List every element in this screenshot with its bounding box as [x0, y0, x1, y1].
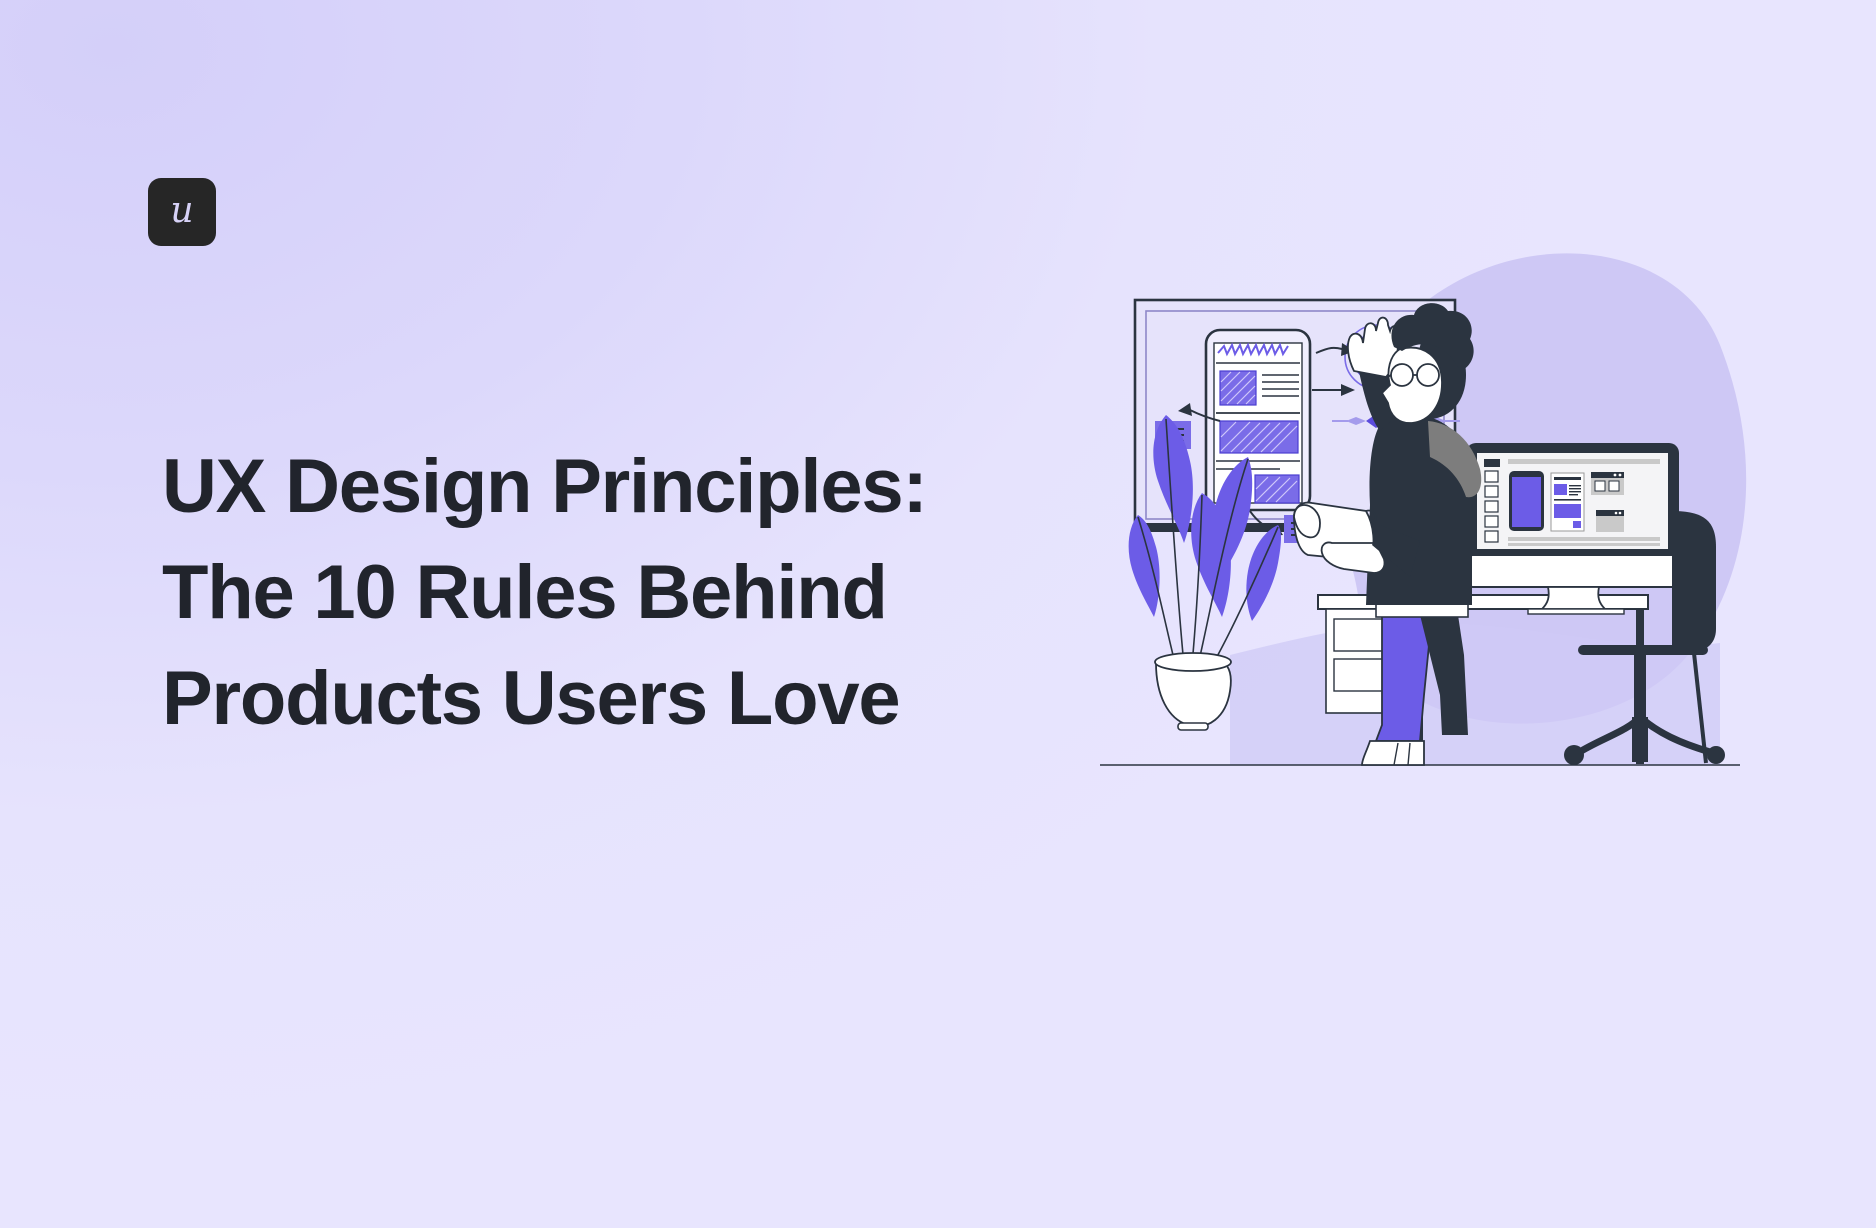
hero-banner: u UX Design Principles: The 10 Rules Beh…	[0, 0, 1876, 1228]
brand-logo[interactable]: u	[148, 178, 216, 246]
page-title: UX Design Principles: The 10 Rules Behin…	[162, 434, 952, 752]
hero-illustration	[1080, 225, 1780, 795]
ux-designer-illustration	[1080, 225, 1780, 795]
phone-wireframe-icon	[1206, 330, 1310, 510]
brand-logo-glyph: u	[170, 193, 193, 229]
